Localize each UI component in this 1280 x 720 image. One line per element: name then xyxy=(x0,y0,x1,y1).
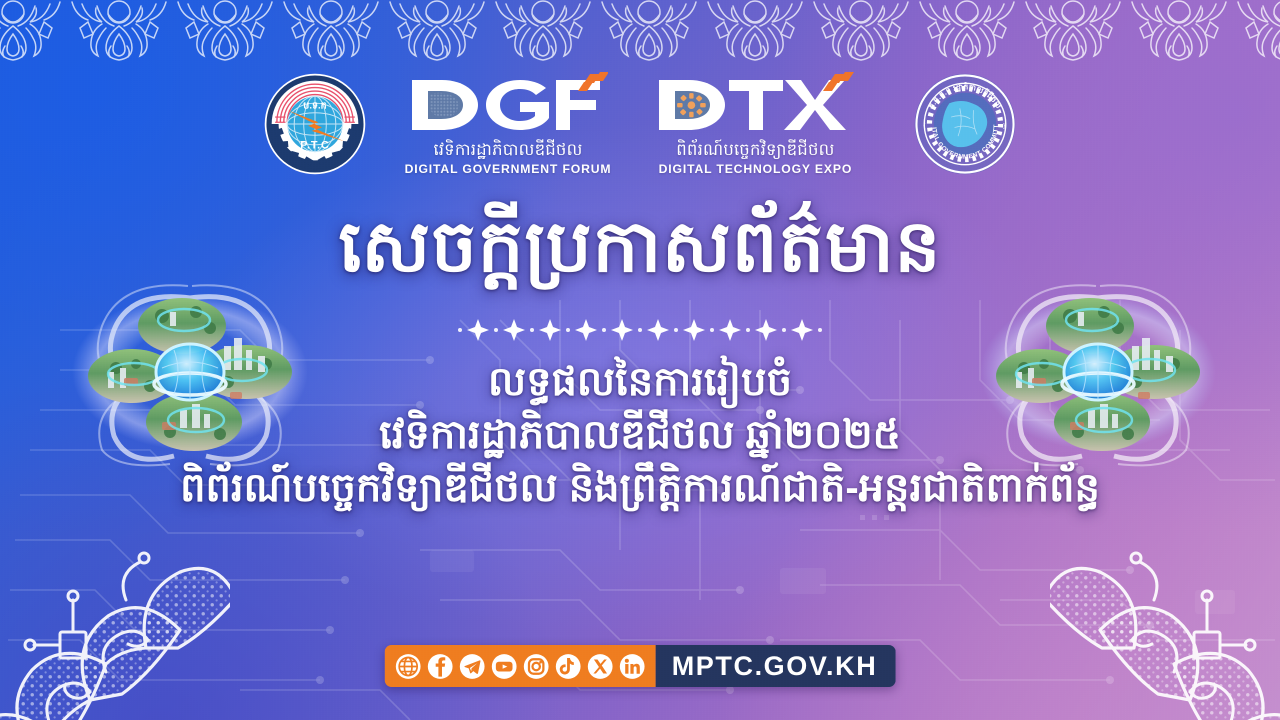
ptc-emblem: ប.ទ.ក P.T.C xyxy=(263,72,367,176)
sparkle-dot-icon xyxy=(705,323,719,337)
subtitle-block: លទ្ធផលនៃការរៀបចំ វេទិការដ្ឋាភិបាលឌីជីថល … xyxy=(0,356,1280,516)
khmer-floral-border xyxy=(0,0,1280,62)
sparkle-diamond-icon xyxy=(611,319,633,341)
sparkle-diamond-icon xyxy=(719,319,741,341)
digital-government-committee-emblem: គ.ជ.ក.ទ រដ្ឋាភិបាលឌីជីថល DIGITAL GOVERNM… xyxy=(913,72,1017,176)
khmer-lotus-motif xyxy=(1050,496,1280,720)
sparkle-dot-icon xyxy=(561,323,575,337)
ptc-khmer-initials: ប.ទ.ក xyxy=(303,100,326,111)
banner-canvas: ប.ទ.ក P.T.C xyxy=(0,0,1280,720)
sparkle-diamond-icon xyxy=(503,319,525,341)
subtitle-line-2: វេទិការដ្ឋាភិបាលឌីជីថល ឆ្នាំ២០២៥ xyxy=(0,409,1280,462)
dgf-logo: វេទិការដ្ឋាភិបាលឌីជីថល DIGITAL GOVERNMEN… xyxy=(405,72,612,176)
sparkle-diamond-icon xyxy=(683,319,705,341)
sparkle-dot-icon xyxy=(777,323,791,337)
dtx-letters xyxy=(655,72,855,138)
dtx-logo: ពិព័រណ៍បច្ចេកវិទ្យាឌីជីថល DIGITAL TECHNO… xyxy=(655,72,855,176)
footer-bar: MPTC.GOV.KH xyxy=(385,645,896,687)
seal-left-bracket: { xyxy=(924,123,926,129)
linkedin-icon[interactable] xyxy=(619,653,646,680)
instagram-icon[interactable] xyxy=(523,653,550,680)
sparkle-dot-icon xyxy=(489,323,503,337)
youtube-icon[interactable] xyxy=(491,653,518,680)
sparkle-dot-icon xyxy=(525,323,539,337)
dgf-khmer-label: វេទិការដ្ឋាភិបាលឌីជីថល xyxy=(433,140,582,161)
sparkle-diamond-icon xyxy=(647,319,669,341)
tiktok-icon[interactable] xyxy=(555,653,582,680)
seal-right-bracket: } xyxy=(1004,123,1006,129)
sparkle-dot-icon xyxy=(741,323,755,337)
sparkle-dot-icon xyxy=(597,323,611,337)
facebook-icon[interactable] xyxy=(427,653,454,680)
sparkle-diamond-icon xyxy=(467,319,489,341)
globe-icon[interactable] xyxy=(395,653,422,680)
website-url[interactable]: MPTC.GOV.KH xyxy=(656,645,896,687)
sparkle-dot-icon xyxy=(453,323,467,337)
sparkle-divider xyxy=(0,315,1280,345)
subtitle-line-1: លទ្ធផលនៃការរៀបចំ xyxy=(0,356,1280,409)
sparkle-dot-icon xyxy=(633,323,647,337)
sparkle-diamond-icon xyxy=(539,319,561,341)
social-icon-strip xyxy=(385,645,656,687)
sparkle-dot-icon xyxy=(669,323,683,337)
dtx-english-label: DIGITAL TECHNOLOGY EXPO xyxy=(659,162,853,176)
logo-row: ប.ទ.ក P.T.C xyxy=(0,58,1280,190)
sparkle-dot-icon xyxy=(813,323,827,337)
page-title: សេចក្ដីប្រកាសព័ត៌មាន xyxy=(0,206,1280,289)
dtx-khmer-label: ពិព័រណ៍បច្ចេកវិទ្យាឌីជីថល xyxy=(676,140,834,161)
x-icon[interactable] xyxy=(587,653,614,680)
sparkle-diamond-icon xyxy=(791,319,813,341)
dgf-letters xyxy=(408,72,608,138)
sparkle-diamond-icon xyxy=(575,319,597,341)
telegram-icon[interactable] xyxy=(459,653,486,680)
sparkle-diamond-icon xyxy=(755,319,777,341)
khmer-lotus-motif xyxy=(0,496,230,720)
ptc-latin-initials: P.T.C xyxy=(300,139,329,151)
dgf-english-label: DIGITAL GOVERNMENT FORUM xyxy=(405,162,612,176)
subtitle-line-3: ពិព័រណ៍បច្ចេកវិទ្យាឌីជីថល និងព្រឹត្តិការ… xyxy=(0,462,1280,515)
